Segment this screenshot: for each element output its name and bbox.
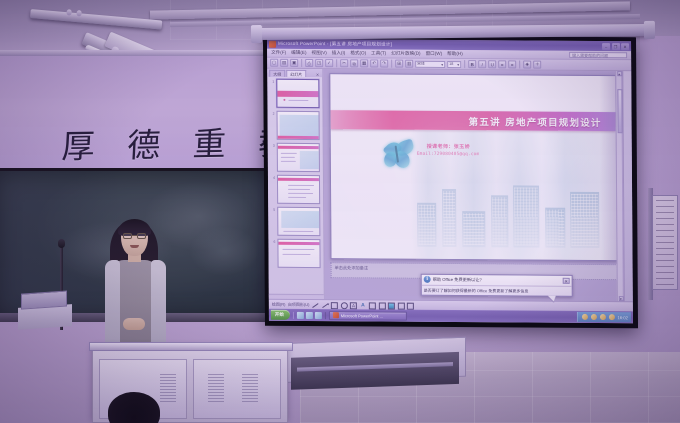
- powerpoint-icon: [333, 312, 339, 318]
- side-desk: [276, 337, 466, 384]
- slide-scrollbar[interactable]: ▲ ▼: [615, 71, 623, 301]
- wall-notice: [652, 195, 678, 290]
- task-pane[interactable]: [622, 71, 633, 301]
- menu-edit[interactable]: 编辑(E): [291, 50, 306, 56]
- slide-number: 1: [270, 79, 274, 84]
- design-button[interactable]: ◈: [523, 61, 531, 69]
- font-color-icon[interactable]: [407, 302, 414, 309]
- slide-thumbnail-1[interactable]: [276, 79, 320, 108]
- slide-thumbnail-2[interactable]: [276, 111, 320, 140]
- start-button[interactable]: 开始: [271, 310, 290, 320]
- slide-edge-shadow: [599, 76, 616, 260]
- paste-icon[interactable]: ▦: [360, 59, 368, 67]
- window-title: Microsoft PowerPoint - [第五讲 房地产项目规划设计]: [278, 41, 392, 48]
- current-slide[interactable]: 第五讲 房地产项目规划设计 授课老师：张玉娇 Email:729080405@q…: [329, 73, 617, 261]
- media-icon[interactable]: [315, 312, 322, 319]
- table-icon[interactable]: ⊞: [395, 60, 403, 68]
- redo-icon[interactable]: ↷: [380, 60, 388, 68]
- slide-number: 6: [271, 239, 275, 244]
- menu-window[interactable]: 窗口(W): [426, 51, 443, 57]
- textbox-icon[interactable]: A: [350, 302, 357, 309]
- glasses-icon: [123, 233, 146, 239]
- undo-icon[interactable]: ↶: [370, 59, 378, 67]
- start-label: 开始: [275, 312, 284, 318]
- wall-trim: [0, 50, 300, 56]
- slide-thumbnail-3[interactable]: [276, 143, 320, 172]
- bold-icon[interactable]: B: [468, 60, 476, 68]
- diagram-icon[interactable]: [369, 302, 376, 309]
- powerpoint-icon: [269, 40, 276, 47]
- projector-screen: Microsoft PowerPoint - [第五讲 房地产项目规划设计] –…: [263, 35, 638, 329]
- antivirus-icon[interactable]: [599, 314, 605, 320]
- info-icon: i: [424, 276, 431, 283]
- menu-tools[interactable]: 工具(T): [371, 50, 386, 56]
- save-icon[interactable]: ▣: [290, 59, 298, 67]
- taskbar-item-powerpoint[interactable]: Microsoft PowerPoint ...: [329, 311, 407, 321]
- slide-thumbnail-6[interactable]: [277, 239, 321, 268]
- chart-icon[interactable]: ▥: [405, 60, 413, 68]
- menu-help[interactable]: 帮助(H): [447, 51, 463, 57]
- slide-thumbnail-5[interactable]: [277, 207, 321, 236]
- cut-icon[interactable]: ✂: [340, 59, 348, 67]
- volume-icon[interactable]: [581, 314, 587, 320]
- powerpoint-body: 大纲 幻灯片 ✕ 1: [267, 69, 633, 302]
- line-color-icon[interactable]: [397, 302, 404, 309]
- align-left-icon[interactable]: ≡: [498, 60, 506, 68]
- balloon-close-icon[interactable]: ✕: [563, 277, 570, 283]
- slide-thumbnail-list[interactable]: 1 2: [267, 77, 324, 294]
- list-item[interactable]: 6: [271, 239, 320, 268]
- taskbar-item-label: Microsoft PowerPoint ...: [341, 313, 383, 318]
- presenter-cardigan-left: [105, 260, 120, 346]
- line-icon[interactable]: [312, 303, 318, 308]
- print-icon[interactable]: ⎙: [305, 59, 313, 67]
- windows-taskbar[interactable]: 开始 Microsoft PowerPoint ... 16:02: [269, 309, 633, 324]
- scroll-up-icon[interactable]: ▲: [617, 71, 622, 76]
- list-item[interactable]: 5: [271, 207, 320, 236]
- align-center-icon[interactable]: ≡: [508, 60, 516, 68]
- office-notification-balloon[interactable]: i 帮助 Office 免费更新以让? ✕ 是否要订了解如何获得最新的 Offi…: [421, 273, 573, 297]
- menu-view[interactable]: 视图(V): [311, 50, 326, 56]
- restore-button[interactable]: ❐: [612, 43, 620, 50]
- window-controls[interactable]: – ❐ ✕: [602, 43, 629, 50]
- tray-clock: 16:02: [617, 315, 628, 320]
- copy-icon[interactable]: ⧉: [350, 59, 358, 67]
- drawing-menu-label[interactable]: 绘图(R): [272, 302, 286, 308]
- underline-icon[interactable]: U: [488, 60, 496, 68]
- slide-number: 5: [271, 207, 275, 212]
- presenter-cardigan-right: [151, 260, 166, 346]
- balloon-body: 是否要订了解如何获得最新的 Office 免费更新了解更多信息: [422, 285, 572, 296]
- slide-title-band[interactable]: 第五讲 房地产项目规划设计: [330, 110, 615, 131]
- menu-slideshow[interactable]: 幻灯片放映(D): [391, 51, 420, 57]
- fill-color-icon[interactable]: [388, 302, 395, 309]
- oval-icon[interactable]: [340, 302, 347, 309]
- ime-icon[interactable]: [608, 314, 614, 320]
- scrollbar-thumb[interactable]: [617, 89, 622, 133]
- arrow-icon[interactable]: [322, 303, 328, 308]
- ie-icon[interactable]: [297, 311, 304, 318]
- preview-icon[interactable]: ◳: [315, 59, 323, 67]
- rectangle-icon[interactable]: [331, 302, 338, 309]
- list-item[interactable]: 3: [271, 143, 320, 172]
- menu-format[interactable]: 格式(O): [350, 50, 366, 56]
- network-icon[interactable]: [590, 314, 596, 320]
- list-item[interactable]: 2: [271, 111, 320, 140]
- slide-number: 3: [271, 143, 275, 148]
- slide-title: 第五讲 房地产项目规划设计: [469, 114, 602, 129]
- italic-icon[interactable]: I: [478, 60, 486, 68]
- font-size-select[interactable]: 18▾: [447, 60, 461, 67]
- slide-thumbnail-4[interactable]: [276, 175, 320, 204]
- open-icon[interactable]: ▤: [280, 59, 288, 67]
- butterfly-icon: [383, 141, 417, 171]
- slide-number: 2: [271, 111, 275, 116]
- balloon-tail: [548, 296, 556, 302]
- presenter: [96, 214, 174, 354]
- slide-email: Email:729080405@qq.com: [417, 152, 480, 157]
- desktop-icon[interactable]: [306, 311, 313, 318]
- system-tray[interactable]: 16:02: [576, 312, 631, 322]
- close-button[interactable]: ✕: [621, 43, 629, 50]
- clipart-icon[interactable]: [378, 302, 385, 309]
- slides-pane[interactable]: 大纲 幻灯片 ✕ 1: [267, 69, 325, 299]
- balloon-title: 帮助 Office 免费更新以让?: [433, 276, 482, 282]
- font-name-select[interactable]: 宋体▾: [415, 60, 445, 67]
- list-item[interactable]: 1: [270, 79, 319, 108]
- list-item[interactable]: 4: [271, 175, 320, 204]
- slide-number: 4: [271, 175, 275, 180]
- menu-insert[interactable]: 插入(I): [332, 50, 346, 56]
- wordart-icon[interactable]: A: [359, 302, 366, 309]
- minimize-button[interactable]: –: [602, 43, 610, 50]
- new-icon[interactable]: ▢: [270, 59, 278, 67]
- autoshapes-label[interactable]: 自项图形(U): [288, 302, 310, 308]
- quick-launch-bar[interactable]: [293, 311, 326, 318]
- menu-file[interactable]: 文件(F): [271, 50, 286, 56]
- spell-icon[interactable]: ✓: [325, 59, 333, 67]
- powerpoint-window: Microsoft PowerPoint - [第五讲 房地产项目规划设计] –…: [267, 39, 633, 324]
- classroom-scene: 厚 德 重 教 Microsoft PowerPoint - [第五讲 房地产项…: [0, 0, 680, 423]
- slide-subtitle: 授课老师：张玉娇: [427, 143, 470, 150]
- new-slide-button[interactable]: ＋: [533, 61, 541, 69]
- help-search-input[interactable]: 键入需要帮助的问题: [569, 52, 627, 58]
- slide-background-photo: [331, 130, 617, 260]
- slide-editor[interactable]: 第五讲 房地产项目规划设计 授课老师：张玉娇 Email:729080405@q…: [323, 69, 624, 301]
- laptop: [18, 304, 72, 330]
- presenter-hands: [123, 318, 145, 330]
